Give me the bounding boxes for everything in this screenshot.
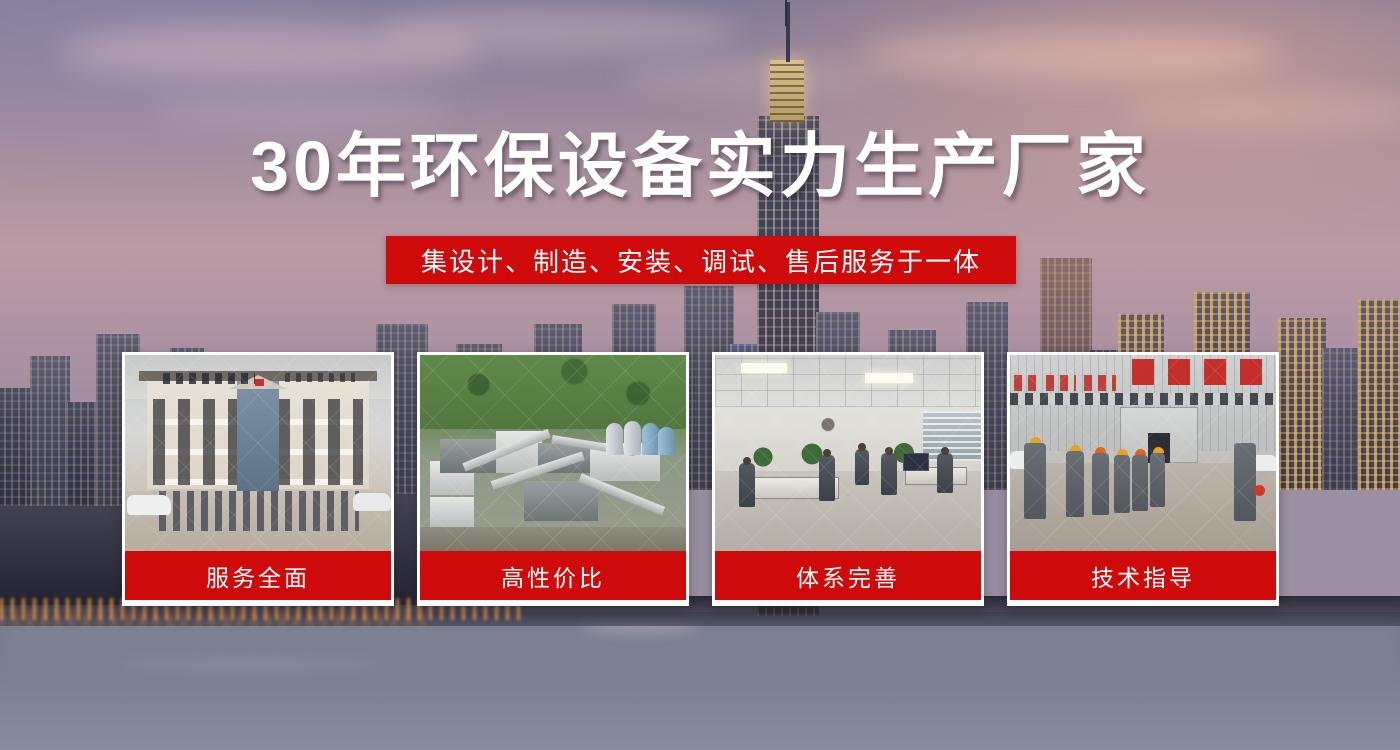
- worker: [1066, 451, 1084, 517]
- silo: [624, 421, 641, 455]
- card-caption-bar: 技术指导: [1010, 551, 1276, 600]
- building-sign-text: [163, 373, 255, 384]
- card-caption-bar: 高性价比: [420, 551, 686, 600]
- building: [30, 356, 70, 506]
- subtitle-text: 集设计、制造、安装、调试、售后服务于一体: [421, 242, 981, 279]
- window-blinds: [923, 411, 981, 461]
- hard-hat-icon: [1030, 437, 1041, 443]
- card-caption-text: 高性价比: [501, 559, 605, 593]
- silo: [642, 423, 659, 455]
- card-caption-text: 体系完善: [796, 559, 900, 593]
- parked-car: [353, 493, 391, 511]
- worker: [1132, 455, 1148, 511]
- wall-slogan-small: [1084, 375, 1116, 391]
- hard-hat-icon: [1095, 447, 1106, 453]
- feature-card-list: 服务全面: [122, 352, 1279, 606]
- red-helmet: [1254, 485, 1265, 496]
- wall-slogan-small: [1046, 375, 1076, 391]
- site-road: [420, 527, 686, 551]
- wall-slogan-small: [1014, 375, 1042, 391]
- card-photo-open-plan-office-interior-with-staff: [715, 355, 981, 551]
- building: [1322, 348, 1362, 490]
- potted-plant: [751, 447, 775, 467]
- hard-hat-icon: [1070, 445, 1081, 451]
- parked-car: [127, 495, 171, 515]
- card-photo-aerial-view-industrial-plant: [420, 355, 686, 551]
- window-band: [1010, 393, 1276, 405]
- building: [1358, 300, 1400, 490]
- tower-antenna: [785, 0, 787, 26]
- hard-hat-icon: [1135, 449, 1146, 455]
- card-photo-workshop-workers-in-hard-hats: [1010, 355, 1276, 551]
- person: [819, 455, 835, 501]
- shore-lights-reflection: [0, 612, 430, 626]
- ceiling-light: [865, 373, 913, 383]
- person-head: [885, 447, 893, 455]
- person-head: [743, 457, 751, 465]
- worker: [1114, 455, 1130, 513]
- building: [1278, 318, 1326, 490]
- worker: [1024, 443, 1046, 519]
- person: [937, 453, 953, 493]
- wall-emblem: [815, 415, 841, 439]
- feature-card[interactable]: 高性价比: [417, 352, 689, 606]
- wall-slogan-large: [1132, 359, 1272, 385]
- card-caption-bar: 体系完善: [715, 551, 981, 600]
- water-reflection: [120, 660, 380, 668]
- card-photo-company-office-building-with-staff: [125, 355, 391, 551]
- card-caption-text: 技术指导: [1091, 559, 1195, 593]
- plant-complex: [430, 417, 676, 537]
- card-caption-text: 服务全面: [206, 559, 310, 593]
- person-head: [823, 449, 831, 457]
- feature-card[interactable]: 服务全面: [122, 352, 394, 606]
- ceiling-light: [741, 363, 787, 373]
- hard-hat-icon: [1153, 447, 1164, 453]
- glass-atrium: [237, 381, 279, 491]
- card-caption-bar: 服务全面: [125, 551, 391, 600]
- feature-card[interactable]: 技术指导: [1007, 352, 1279, 606]
- hard-hat-icon: [1117, 449, 1128, 455]
- subtitle-banner: 集设计、制造、安装、调试、售后服务于一体: [386, 236, 1016, 284]
- worker: [1150, 453, 1165, 507]
- staff-row: [159, 491, 359, 531]
- person-head: [941, 447, 949, 455]
- promo-banner: 30年环保设备实力生产厂家 集设计、制造、安装、调试、售后服务于一体: [0, 0, 1400, 750]
- flag: [255, 379, 264, 386]
- silo: [606, 423, 623, 455]
- building: [66, 402, 100, 506]
- tower-crown: [770, 60, 804, 122]
- person-head: [858, 443, 866, 451]
- monitor: [903, 453, 929, 471]
- worker: [1092, 453, 1109, 515]
- plant-building: [524, 481, 598, 521]
- plant-building: [430, 497, 474, 527]
- silo: [658, 427, 675, 455]
- page-title: 30年环保设备实力生产厂家: [0, 131, 1400, 201]
- building-phone-text: [285, 373, 355, 382]
- supervisor: [1234, 443, 1256, 521]
- person: [855, 449, 869, 485]
- person: [739, 463, 755, 507]
- feature-card[interactable]: 体系完善: [712, 352, 984, 606]
- person: [881, 453, 897, 495]
